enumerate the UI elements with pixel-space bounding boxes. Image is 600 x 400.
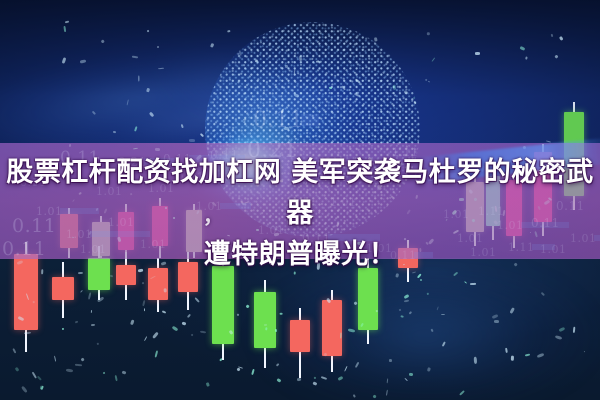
- banner-image: 0.110.210.111.010.110.111.011.011.010.21…: [0, 0, 600, 400]
- candlestick-body: [212, 266, 234, 344]
- headline-line-2: 遭特朗普曝光！: [0, 234, 600, 275]
- candlestick: [322, 290, 342, 372]
- candlestick-body: [322, 300, 342, 356]
- candlestick-body: [254, 292, 276, 348]
- headline-text: 股票杠杆配资找加杠网 美军突袭马杜罗的秘密武器 遭特朗普曝光！: [0, 152, 600, 275]
- candlestick: [290, 308, 310, 378]
- candlestick-body: [358, 268, 378, 330]
- candlestick-body: [290, 320, 310, 352]
- headline-line-1: 股票杠杆配资找加杠网 美军突袭马杜罗的秘密武器: [6, 157, 593, 229]
- stray-comma-glyph: ，: [203, 200, 223, 229]
- candlestick-body: [52, 277, 74, 300]
- candlestick: [254, 280, 276, 368]
